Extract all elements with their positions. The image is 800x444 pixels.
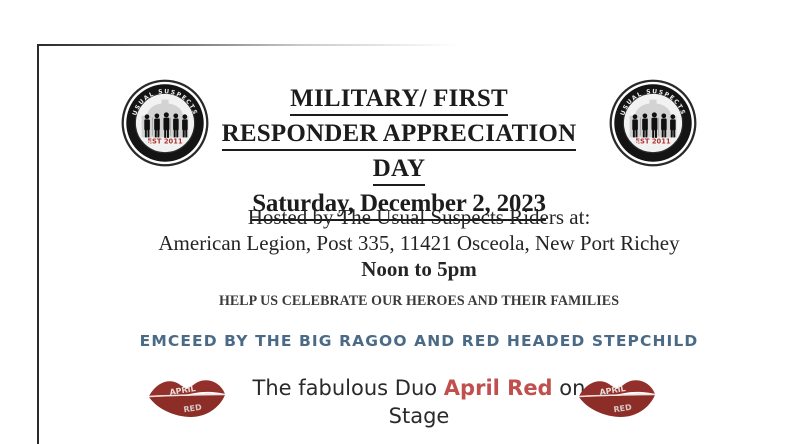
venue-line: American Legion, Post 335, 11421 Osceola… — [69, 230, 769, 256]
duo-accent-april-red: April Red — [444, 376, 553, 400]
duo-prefix: The fabulous Duo — [253, 376, 444, 400]
headline-line-3: DAY — [199, 154, 599, 186]
headline-line-1: MILITARY/ FIRST — [199, 84, 599, 116]
celebrate-line: HELP US CELEBRATE OUR HEROES AND THEIR F… — [94, 293, 745, 310]
lips-graphic-right: APRIL RED — [577, 376, 657, 418]
page-top-edge — [39, 44, 459, 46]
club-logo-left: EST 2011 USUAL SUSPECTS RIDERS — [120, 78, 210, 168]
scanned-flyer-page: EST 2011 USUAL SUSPECTS RIDERS — [37, 44, 800, 444]
club-logo-right: EST 2011 USUAL SUSPECTS RIDERS — [608, 78, 698, 168]
flyer-headline: MILITARY/ FIRST RESPONDER APPRECIATION D… — [199, 84, 599, 224]
emcee-line: EMCEED BY THE BIG RAGOO AND RED HEADED S… — [69, 332, 769, 350]
lips-graphic-left: APRIL RED — [147, 376, 227, 418]
april-red-lips-icon: APRIL RED — [147, 376, 227, 418]
headline-line-1-text: MILITARY/ FIRST — [290, 84, 508, 116]
usual-suspects-riders-badge-icon: EST 2011 USUAL SUSPECTS RIDERS — [120, 78, 210, 168]
april-red-lips-icon: APRIL RED — [577, 376, 657, 418]
duo-announcement-row: APRIL RED APRIL RED The fabulous Duo Apr… — [69, 374, 769, 444]
time-line: Noon to 5pm — [69, 256, 769, 282]
headline-line-3-text: DAY — [373, 154, 425, 186]
hosted-by-line: Hosted by The Usual Suspects Riders at: — [69, 204, 769, 230]
usual-suspects-riders-badge-icon: EST 2011 USUAL SUSPECTS RIDERS — [608, 78, 698, 168]
flyer-body: Hosted by The Usual Suspects Riders at: … — [69, 204, 769, 282]
headline-line-2-text: RESPONDER APPRECIATION — [222, 119, 577, 151]
headline-line-2: RESPONDER APPRECIATION — [199, 119, 599, 151]
